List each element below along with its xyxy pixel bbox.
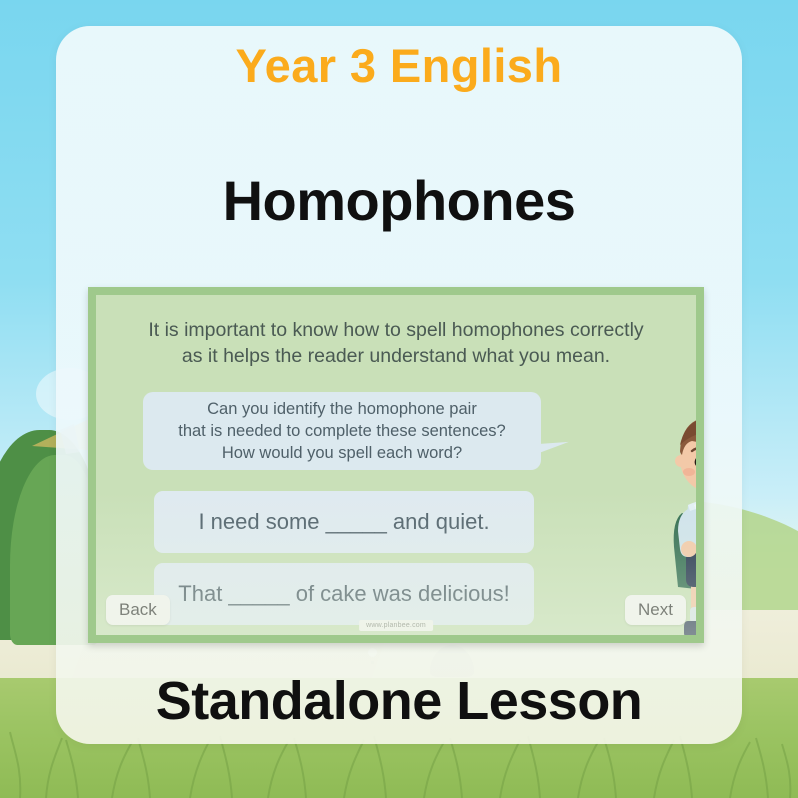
back-button[interactable]: Back — [106, 595, 170, 625]
page-title: Homophones — [0, 168, 798, 233]
speech-bubble-text: Can you identify the homophone pair that… — [164, 398, 519, 465]
sentence-text-1: I need some _____ and quiet. — [198, 509, 489, 535]
lesson-type-title: Standalone Lesson — [0, 670, 798, 732]
intro-line-1: It is important to know how to spell hom… — [114, 317, 678, 343]
watermark: www.planbee.com — [359, 620, 433, 631]
speech-bubble-tail — [535, 442, 571, 476]
lesson-slide: It is important to know how to spell hom… — [88, 287, 704, 643]
speech-line-3: How would you spell each word? — [178, 442, 505, 464]
sentence-box-2: That _____ of cake was delicious! — [154, 563, 534, 625]
sentence-box-1: I need some _____ and quiet. — [154, 491, 534, 553]
lesson-slide-inner: It is important to know how to spell hom… — [96, 295, 696, 635]
intro-text: It is important to know how to spell hom… — [114, 317, 678, 369]
speech-bubble: Can you identify the homophone pair that… — [143, 392, 541, 470]
intro-line-2: as it helps the reader understand what y… — [114, 343, 678, 369]
subject-kicker: Year 3 English — [0, 38, 798, 93]
lesson-preview-card: Year 3 English Homophones It is importan… — [0, 0, 798, 798]
next-button[interactable]: Next — [625, 595, 686, 625]
sentence-text-2: That _____ of cake was delicious! — [178, 581, 509, 607]
speech-line-2: that is needed to complete these sentenc… — [178, 420, 505, 442]
speech-line-1: Can you identify the homophone pair — [178, 398, 505, 420]
